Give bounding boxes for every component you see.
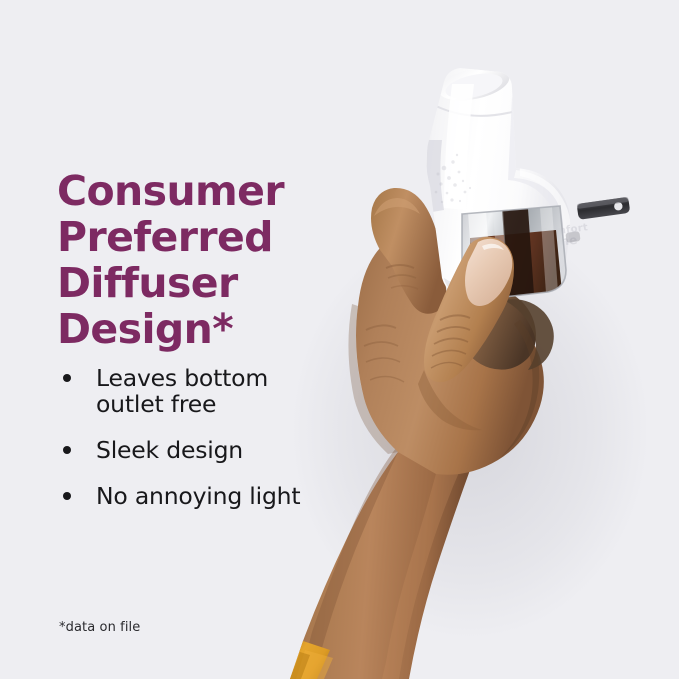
list-item-label: No annoying light: [96, 483, 367, 509]
device-top-rim: [436, 62, 513, 106]
list-item-label: Leaves bottom outlet free: [96, 365, 367, 417]
diffuser-device: Comfort Zone: [426, 62, 630, 301]
page-title: Consumer Preferred Diffuser Design*: [57, 168, 357, 352]
copy-block: Consumer Preferred Diffuser Design*: [57, 168, 357, 352]
footnote: *data on file: [59, 620, 140, 635]
list-item-label: Sleek design: [96, 437, 367, 463]
refill-vial: [462, 206, 566, 300]
plug-prong: [577, 197, 631, 220]
sweater-sleeve: [290, 641, 330, 679]
palm: [356, 236, 544, 474]
list-item: No annoying light: [57, 483, 367, 509]
thumb: [424, 237, 514, 382]
index-finger: [371, 188, 446, 314]
bullet-dot-icon: [63, 446, 71, 454]
thumbnail: [465, 239, 512, 306]
bullet-dot-icon: [63, 374, 71, 382]
svg-text:Comfort: Comfort: [540, 222, 589, 239]
middle-finger: [460, 288, 536, 370]
benefits-list: Leaves bottom outlet free Sleek design N…: [57, 365, 367, 509]
product-feature-card: Comfort Zone: [0, 0, 679, 679]
ring-finger: [504, 299, 554, 370]
brand-emboss: Comfort Zone: [540, 222, 590, 251]
list-item: Sleek design: [57, 437, 367, 463]
bullet-dot-icon: [63, 492, 71, 500]
svg-text:Zone: Zone: [542, 233, 578, 251]
refill-liquid: [470, 230, 562, 300]
list-item: Leaves bottom outlet free: [57, 365, 367, 417]
device-body: [426, 68, 570, 296]
